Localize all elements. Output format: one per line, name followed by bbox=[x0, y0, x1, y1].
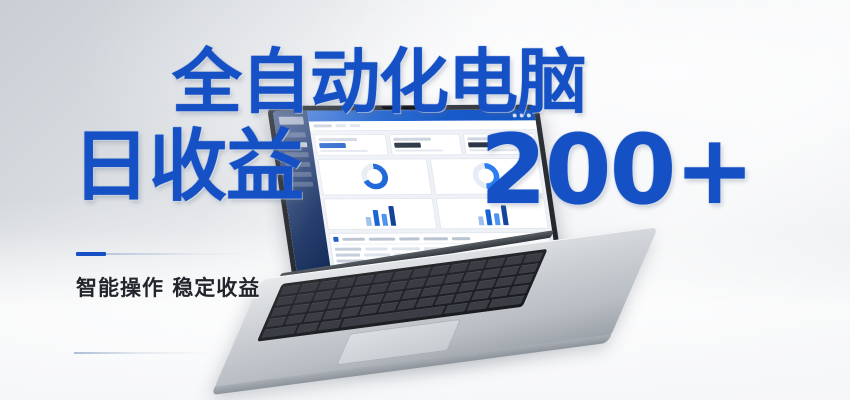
stat-card-3[interactable] bbox=[463, 133, 538, 155]
stat-card-3-sub bbox=[469, 149, 517, 151]
stat-card-1[interactable] bbox=[314, 134, 389, 156]
bar-2 bbox=[373, 210, 380, 226]
accent-divider-fade bbox=[106, 253, 251, 255]
accent-divider-solid bbox=[76, 252, 106, 256]
donut-chart-1 bbox=[359, 164, 389, 190]
bar-1 bbox=[478, 216, 484, 225]
bar-4 bbox=[388, 206, 396, 226]
table-column-5[interactable] bbox=[452, 237, 471, 240]
stat-card-2-value bbox=[394, 143, 421, 148]
webcam-notch bbox=[381, 106, 424, 109]
chart-card-4[interactable] bbox=[435, 197, 549, 229]
subtitle: 智能操作 稳定收益 bbox=[76, 272, 260, 302]
table-cell bbox=[336, 254, 361, 257]
table-column-4[interactable] bbox=[423, 237, 448, 240]
stat-card-row bbox=[310, 130, 541, 159]
donut-chart-2 bbox=[471, 163, 501, 189]
bar-3 bbox=[494, 213, 501, 225]
table-cell bbox=[391, 247, 420, 250]
laptop-mockup bbox=[236, 104, 636, 359]
grid-icon[interactable] bbox=[519, 113, 524, 117]
sidebar-item-1[interactable] bbox=[281, 132, 306, 137]
stat-card-3-label bbox=[468, 137, 507, 140]
avatar-icon[interactable] bbox=[526, 113, 531, 117]
chart-card-1[interactable] bbox=[317, 158, 431, 195]
table-column-2[interactable] bbox=[369, 238, 396, 241]
bar-1 bbox=[366, 217, 372, 226]
sidebar-item-3[interactable] bbox=[284, 152, 309, 157]
table-column-1[interactable] bbox=[342, 238, 365, 241]
breadcrumb-item-1[interactable] bbox=[313, 124, 332, 127]
chart-card-3[interactable] bbox=[323, 198, 437, 230]
breadcrumb-item-2[interactable] bbox=[335, 124, 346, 127]
accent-divider bbox=[76, 252, 251, 256]
bell-icon[interactable] bbox=[512, 113, 517, 117]
app-logo bbox=[279, 117, 304, 125]
table-column-3[interactable] bbox=[399, 237, 420, 240]
sidebar-item-2[interactable] bbox=[282, 142, 307, 147]
chart-card-row-1 bbox=[314, 158, 547, 199]
stat-card-1-value bbox=[319, 143, 346, 148]
stat-card-2[interactable] bbox=[388, 134, 463, 156]
stat-card-2-label bbox=[393, 138, 432, 141]
stat-card-3-value bbox=[468, 142, 495, 147]
bar-chart-2 bbox=[440, 201, 544, 225]
breadcrumb-item-3[interactable] bbox=[350, 124, 361, 127]
promo-banner: 全自动化电脑 日收益 200+ 智能操作 稳定收益 bbox=[0, 0, 850, 400]
bar-4 bbox=[500, 205, 508, 225]
sidebar-item-4[interactable] bbox=[285, 162, 310, 167]
chart-card-row-2 bbox=[320, 197, 552, 233]
select-all-checkbox[interactable] bbox=[333, 237, 339, 242]
sidebar-item-5[interactable] bbox=[287, 172, 312, 177]
bar-chart-1 bbox=[328, 202, 432, 226]
table-cell bbox=[335, 248, 362, 251]
table-cell bbox=[365, 247, 388, 250]
stat-card-2-sub bbox=[395, 149, 443, 151]
bar-2 bbox=[485, 209, 492, 225]
bar-3 bbox=[382, 214, 389, 226]
stat-card-1-sub bbox=[320, 150, 368, 152]
sidebar-item-6[interactable] bbox=[288, 182, 313, 187]
decorative-hairline bbox=[74, 352, 214, 354]
chart-card-2[interactable] bbox=[429, 158, 543, 195]
stat-card-1-label bbox=[318, 138, 357, 141]
